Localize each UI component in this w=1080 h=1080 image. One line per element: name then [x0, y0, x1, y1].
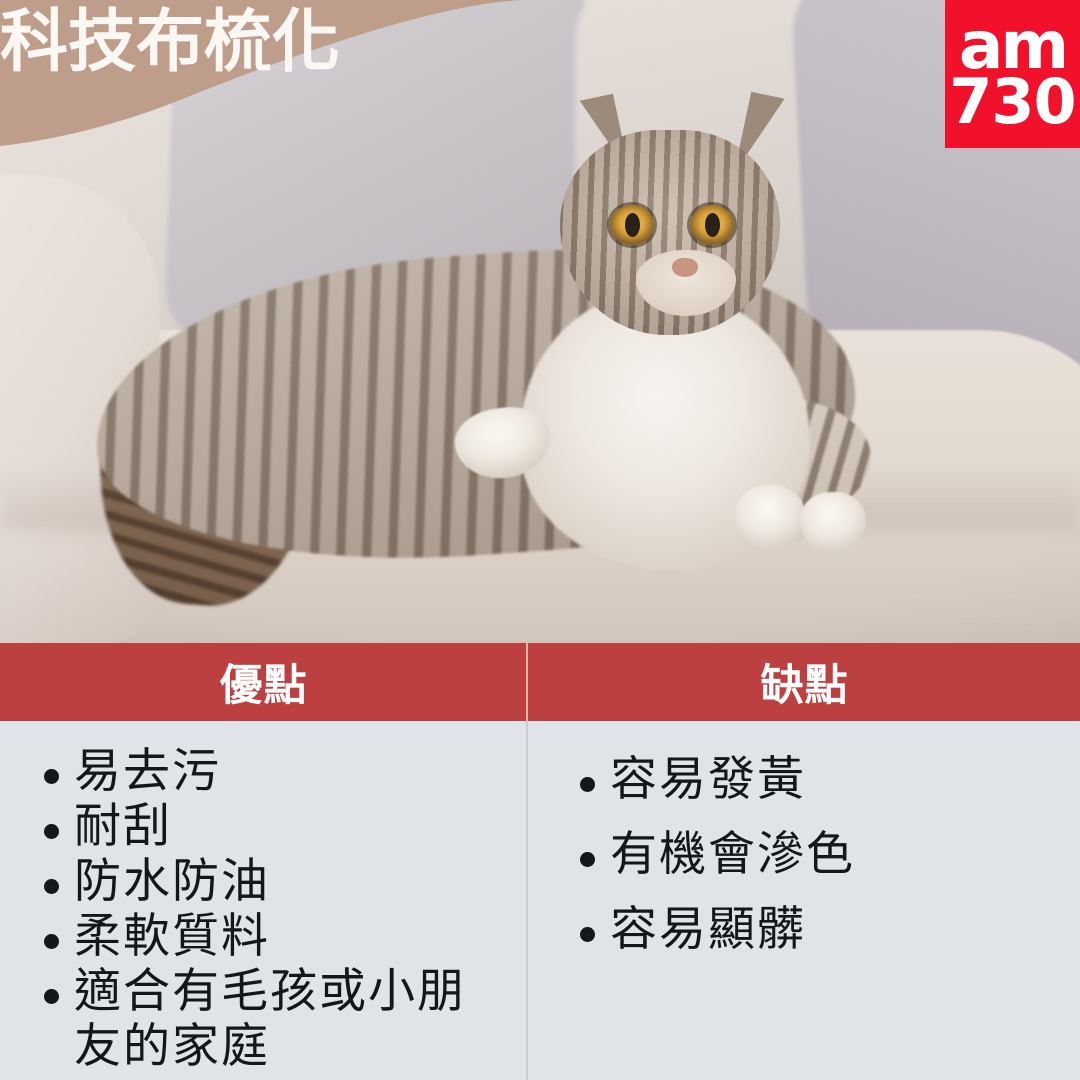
list-item: 耐刮 — [34, 798, 508, 853]
list-item: 容易發黃 — [570, 751, 1062, 806]
table-header-cons: 缺點 — [529, 643, 1080, 721]
pros-list: 易去污 耐刮 防水防油 柔軟質料 適合有毛孩或小朋友的家庭 — [34, 743, 508, 1073]
title-banner: 科技布梳化 — [0, 0, 520, 150]
table-header-row: 優點 缺點 — [0, 643, 1080, 721]
page-title: 科技布梳化 — [0, 8, 340, 76]
am730-logo[interactable]: am 730 — [945, 0, 1080, 148]
infographic-card: 科技布梳化 am 730 優點 缺點 易去污 耐刮 防水防油 柔軟質料 適合有毛… — [0, 0, 1080, 1080]
table-header-pros: 優點 — [0, 643, 527, 721]
column-divider — [526, 643, 528, 1080]
list-item: 防水防油 — [34, 853, 508, 908]
list-item: 柔軟質料 — [34, 908, 508, 963]
list-item: 適合有毛孩或小朋友的家庭 — [34, 963, 508, 1073]
table-column-pros: 易去污 耐刮 防水防油 柔軟質料 適合有毛孩或小朋友的家庭 — [0, 721, 526, 1080]
table-column-cons: 容易發黃 有機會滲色 容易顯髒 — [528, 721, 1080, 1080]
logo-text-730: 730 — [949, 74, 1075, 130]
list-item: 有機會滲色 — [570, 826, 1062, 881]
table-body-row: 易去污 耐刮 防水防油 柔軟質料 適合有毛孩或小朋友的家庭 容易發黃 有機會滲色… — [0, 721, 1080, 1080]
list-item: 易去污 — [34, 743, 508, 798]
pros-cons-table: 優點 缺點 易去污 耐刮 防水防油 柔軟質料 適合有毛孩或小朋友的家庭 容易發黃… — [0, 643, 1080, 1080]
cons-list: 容易發黃 有機會滲色 容易顯髒 — [570, 751, 1062, 956]
list-item: 容易顯髒 — [570, 901, 1062, 956]
